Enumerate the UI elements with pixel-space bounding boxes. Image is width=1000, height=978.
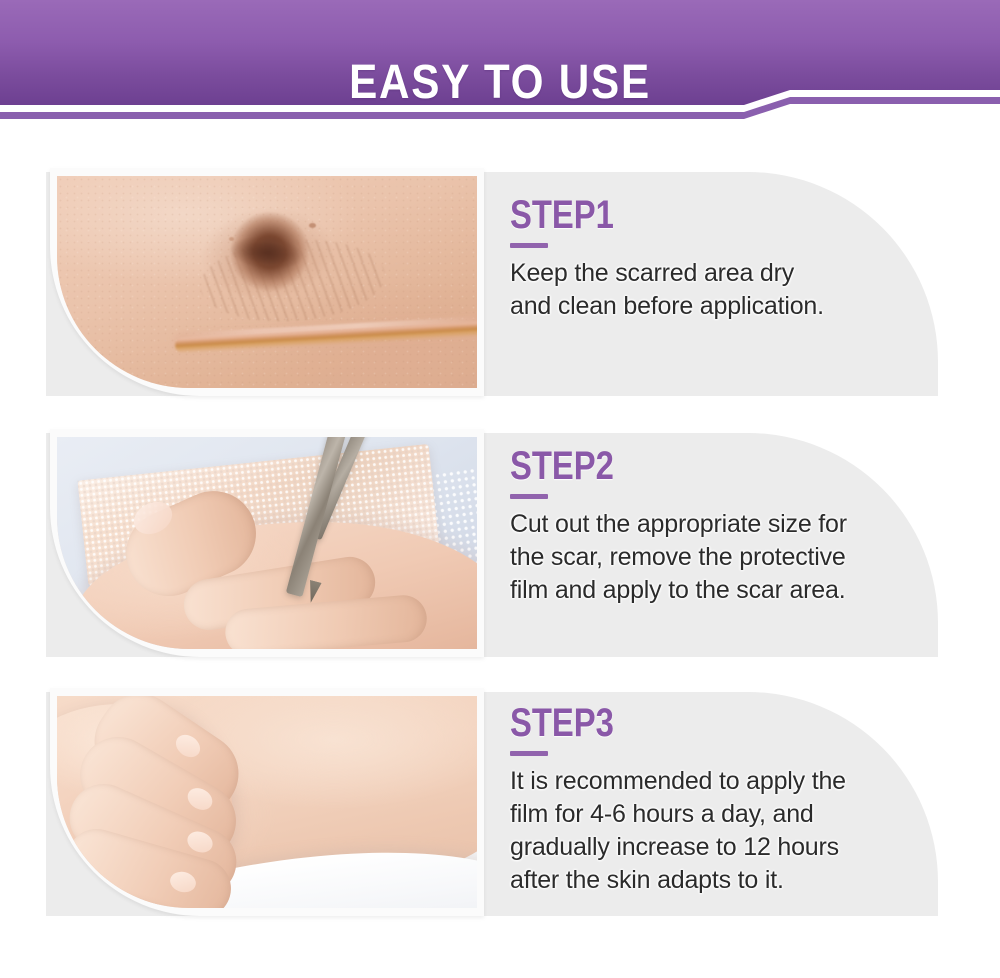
step-card-1-photo-frame [50,168,484,396]
hand-on-abdomen-photo-art [57,696,477,908]
step-1-body: Keep the scarred area dry and clean befo… [510,257,930,323]
step-card-1-photo [57,176,477,388]
step-3-body-line: It is recommended to apply the [510,765,940,798]
step-2-body: Cut out the appropriate size for the sca… [510,508,940,607]
step-1-body-line: Keep the scarred area dry [510,257,930,290]
step-card-2-photo [57,437,477,649]
step-card-3-photo-frame [50,688,484,916]
step-card-1-text: STEP1 Keep the scarred area dry and clea… [510,194,930,323]
step-3-title: STEP3 [510,702,871,744]
step-card-3-text: STEP3 It is recommended to apply the fil… [510,702,950,897]
step-1-title: STEP1 [510,194,854,236]
step-2-body-line: the scar, remove the protective [510,541,940,574]
page-title: EASY TO USE [60,32,940,132]
step-card-1: STEP1 Keep the scarred area dry and clea… [46,172,938,396]
step-card-2-photo-frame [50,429,484,657]
step-2-body-line: film and apply to the scar area. [510,574,940,607]
header-banner: EASY TO USE [0,0,1000,120]
step-1-rule [510,243,548,248]
cutting-sheet-photo-art [57,437,477,649]
step-3-body: It is recommended to apply the film for … [510,765,940,897]
step-card-2-text: STEP2 Cut out the appropriate size for t… [510,445,940,607]
scar-skin-photo-art [57,176,477,388]
step-1-body-line: and clean before application. [510,290,930,323]
step-card-3: STEP3 It is recommended to apply the fil… [46,692,938,916]
step-card-2: STEP2 Cut out the appropriate size for t… [46,433,938,657]
step-3-body-line: film for 4-6 hours a day, and [510,798,940,831]
step-3-body-line: after the skin adapts to it. [510,864,940,897]
step-3-body-line: gradually increase to 12 hours [510,831,940,864]
step-2-title: STEP2 [510,445,863,487]
step-card-3-photo [57,696,477,908]
step-2-body-line: Cut out the appropriate size for [510,508,940,541]
step-2-rule [510,494,548,499]
step-3-rule [510,751,548,756]
